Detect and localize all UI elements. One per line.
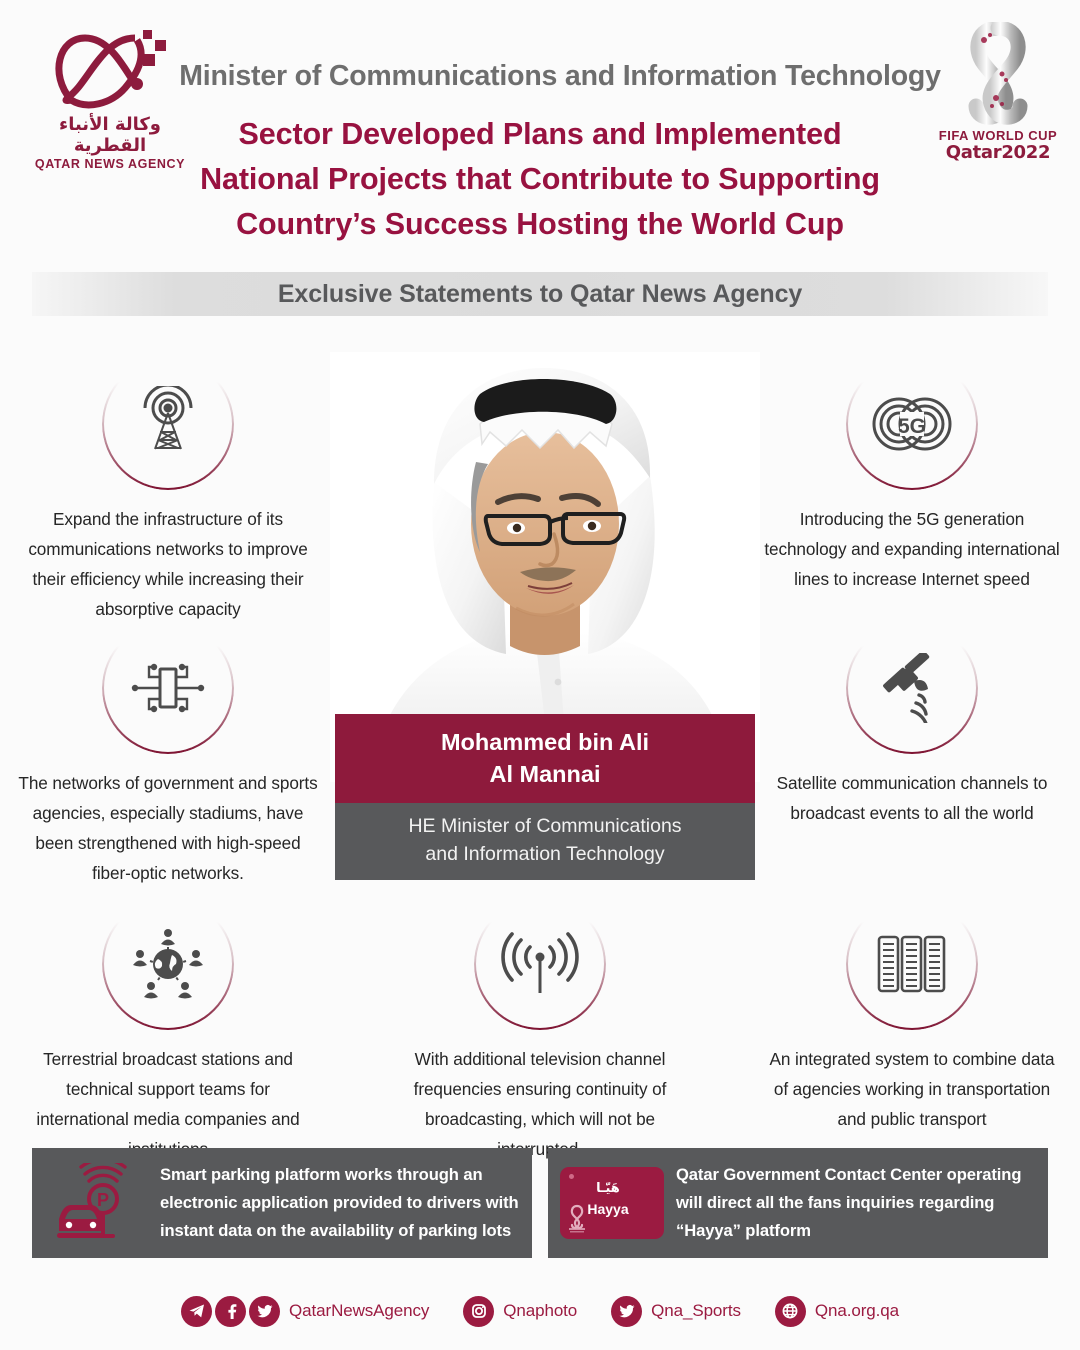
social-group-qatarnewsagency: QatarNewsAgency <box>181 1296 429 1327</box>
smart-parking-car-icon: P <box>32 1163 160 1243</box>
feature-cell-broadcast-tower: Expand the infrastructure of its communi… <box>18 358 318 624</box>
twitter-icon[interactable] <box>611 1296 642 1327</box>
nameplate-title-line2: and Information Technology <box>341 840 749 868</box>
social-handle[interactable]: Qnaphoto <box>503 1301 577 1321</box>
globe-icon[interactable] <box>775 1296 806 1327</box>
feature-text: With additional television channel frequ… <box>390 1044 690 1164</box>
exclusive-statements-banner: Exclusive Statements to Qatar News Agenc… <box>32 272 1048 316</box>
social-handle[interactable]: Qna_Sports <box>651 1301 741 1321</box>
social-group-qnasports: Qna_Sports <box>611 1296 741 1327</box>
exclusive-statements-text: Exclusive Statements to Qatar News Agenc… <box>278 280 802 309</box>
panel-text: Qatar Government Contact Center operatin… <box>676 1161 1048 1245</box>
nameplate-name-line1: Mohammed bin Ali <box>341 726 749 758</box>
satellite-icon <box>846 622 978 754</box>
hayya-card: هَيّـا Hayya <box>560 1167 664 1239</box>
circuit-chip-icon <box>102 622 234 754</box>
svg-text:5G: 5G <box>898 415 926 438</box>
server-racks-icon <box>846 898 978 1030</box>
infographic-page: وكالة الأنباء القطرية QATAR NEWS AGENCY … <box>0 0 1080 1350</box>
feature-text: Terrestrial broadcast stations and techn… <box>18 1044 318 1164</box>
nameplate-title: HE Minister of Communications and Inform… <box>335 803 755 880</box>
fifa-logo: FIFA WORLD CUP Qatar2022 <box>938 22 1058 163</box>
social-handle[interactable]: QatarNewsAgency <box>289 1301 429 1321</box>
page-title: Sector Developed Plans and Implemented N… <box>140 112 940 247</box>
minister-portrait-block: Mohammed bin Ali Al Mannai HE Minister o… <box>330 352 760 857</box>
fifa-logo-line1: FIFA WORLD CUP <box>938 128 1058 143</box>
minister-subtitle: Minister of Communications and Informati… <box>160 60 960 93</box>
telegram-icon[interactable] <box>181 1296 212 1327</box>
feature-text: The networks of government and sports ag… <box>18 768 318 888</box>
twitter-icon[interactable] <box>249 1296 280 1327</box>
hayya-card-dot <box>569 1174 574 1179</box>
footer-social-bar: QatarNewsAgency Qnaphoto Qna_Sports <box>0 1288 1080 1334</box>
panel-smart-parking: P Smart parking platform works through a… <box>32 1148 532 1258</box>
title-line-2: National Projects that Contribute to Sup… <box>140 157 940 202</box>
feature-cell-global-network: Terrestrial broadcast stations and techn… <box>18 898 318 1164</box>
feature-cell-antenna-signal: With additional television channel frequ… <box>390 898 690 1164</box>
fifa-emblem-icon <box>958 22 1038 126</box>
feature-cell-5g: 5G Introducing the 5G generation technol… <box>762 358 1062 594</box>
feature-cell-satellite: Satellite communication channels to broa… <box>762 622 1062 828</box>
feature-cell-circuit: The networks of government and sports ag… <box>18 622 318 888</box>
5g-network-icon: 5G <box>846 358 978 490</box>
feature-text: Expand the infrastructure of its communi… <box>18 504 318 624</box>
nameplate-title-line1: HE Minister of Communications <box>341 812 749 840</box>
nameplate-name-line2: Al Mannai <box>341 758 749 790</box>
header: وكالة الأنباء القطرية QATAR NEWS AGENCY … <box>0 0 1080 258</box>
feature-text: Introducing the 5G generation technology… <box>762 504 1062 594</box>
nameplate: Mohammed bin Ali Al Mannai HE Minister o… <box>335 714 755 880</box>
facebook-icon[interactable] <box>215 1296 246 1327</box>
hayya-card-arabic: هَيّـا <box>560 1181 656 1196</box>
fifa-logo-line2: Qatar2022 <box>938 142 1058 163</box>
hayya-emblem-icon <box>567 1203 587 1233</box>
hayya-card-icon: هَيّـا Hayya <box>548 1167 676 1239</box>
feature-cell-servers: An integrated system to combine data of … <box>762 898 1062 1134</box>
feature-text: An integrated system to combine data of … <box>762 1044 1062 1134</box>
instagram-icon[interactable] <box>463 1296 494 1327</box>
social-group-website: Qna.org.qa <box>775 1296 899 1327</box>
title-line-1: Sector Developed Plans and Implemented <box>140 112 940 157</box>
panel-text: Smart parking platform works through an … <box>160 1161 532 1245</box>
global-network-people-icon <box>102 898 234 1030</box>
svg-text:P: P <box>97 1190 109 1210</box>
social-group-qnaphoto: Qnaphoto <box>463 1296 577 1327</box>
nameplate-name: Mohammed bin Ali Al Mannai <box>335 714 755 803</box>
qna-atom-logo-icon <box>51 22 169 112</box>
title-line-3: Country’s Success Hosting the World Cup <box>140 202 940 247</box>
antenna-signal-icon <box>474 898 606 1030</box>
broadcast-tower-icon <box>102 358 234 490</box>
social-handle[interactable]: Qna.org.qa <box>815 1301 899 1321</box>
feature-text: Satellite communication channels to broa… <box>762 768 1062 828</box>
panel-hayya-contact-center: هَيّـا Hayya Qatar Government Contact Ce… <box>548 1148 1048 1258</box>
